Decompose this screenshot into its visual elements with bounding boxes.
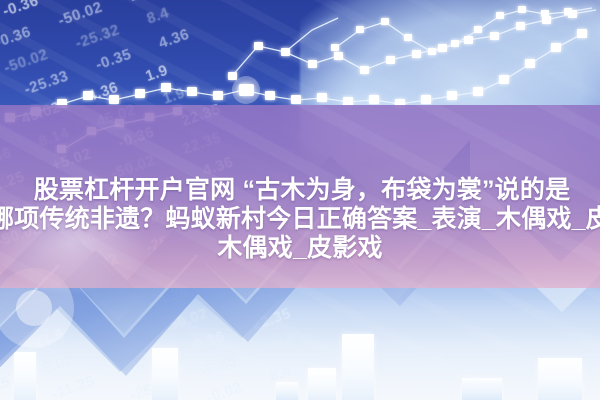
violet-overlay-band xyxy=(0,105,600,288)
violet-band-glow xyxy=(0,168,180,318)
banner-image: -0.02-0.3621.545.024.361.9 -0.06-0.38-11… xyxy=(0,0,600,400)
